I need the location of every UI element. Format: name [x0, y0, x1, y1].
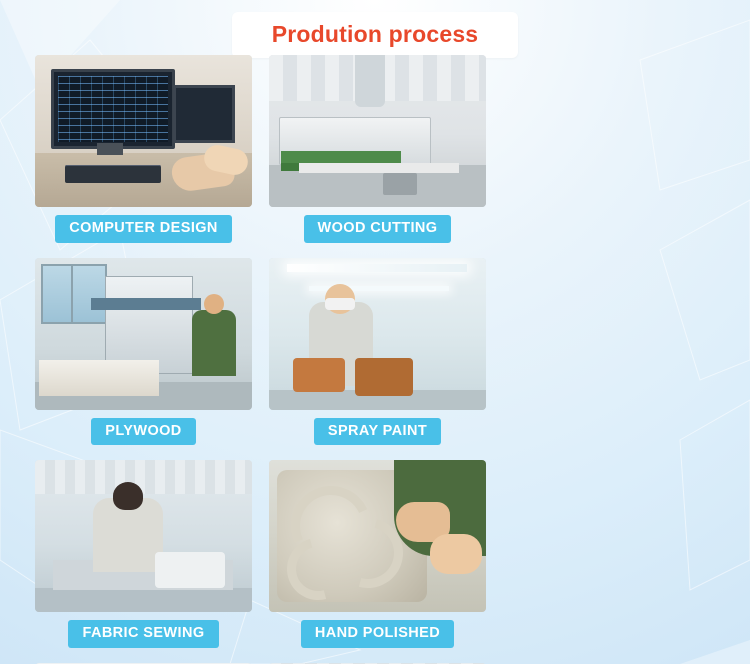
- process-step: WOOD CUTTING: [269, 55, 486, 243]
- fabric-sewing-photo: [35, 460, 252, 612]
- computer-design-photo: [35, 55, 252, 207]
- title-box: Prodution process: [232, 12, 519, 58]
- step-label: PLYWOOD: [91, 418, 195, 446]
- process-grid: COMPUTER DESIGN WOOD CUTTING: [35, 55, 719, 664]
- hand-polished-photo: [269, 460, 486, 612]
- process-step: COMPUTER DESIGN: [35, 55, 252, 243]
- step-label: HAND POLISHED: [301, 620, 454, 648]
- page-title: Prodution process: [272, 23, 479, 46]
- plywood-photo: [35, 258, 252, 410]
- title-container: Prodution process: [0, 12, 750, 58]
- process-step: HAND POLISHED: [269, 460, 486, 648]
- production-process-banner: Prodution process COMPUTER DESIGN: [0, 0, 750, 664]
- spray-paint-photo: [269, 258, 486, 410]
- step-label: WOOD CUTTING: [304, 215, 452, 243]
- process-step: FABRIC SEWING: [35, 460, 252, 648]
- process-step: SPRAY PAINT: [269, 258, 486, 446]
- wood-cutting-photo: [269, 55, 486, 207]
- step-label: FABRIC SEWING: [68, 620, 218, 648]
- step-label: COMPUTER DESIGN: [55, 215, 232, 243]
- step-label: SPRAY PAINT: [314, 418, 441, 446]
- process-step: PLYWOOD: [35, 258, 252, 446]
